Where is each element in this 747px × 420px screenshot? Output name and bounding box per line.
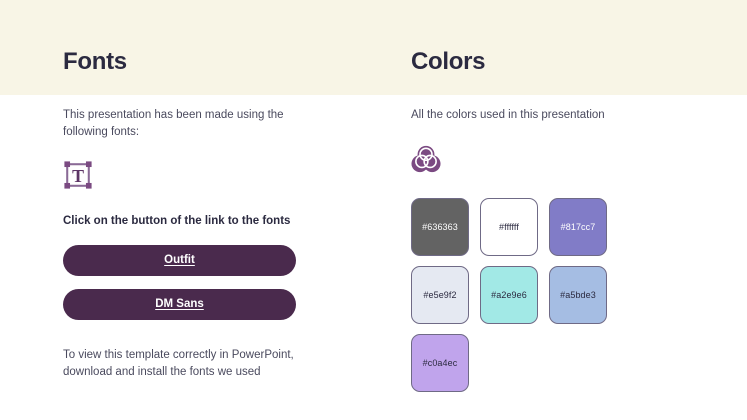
color-swatch-label: #a5bde3 — [560, 290, 596, 300]
text-box-icon: T — [63, 160, 93, 190]
color-swatch-label: #636363 — [422, 222, 458, 232]
color-swatch[interactable]: #ffffff — [480, 198, 538, 256]
colors-section-title: Colors — [411, 50, 485, 74]
color-swatch-label: #a2e9e6 — [491, 290, 527, 300]
fonts-intro-text: This presentation has been made using th… — [63, 107, 313, 140]
color-swatch[interactable]: #817cc7 — [549, 198, 607, 256]
color-swatch-grid: #636363#ffffff#817cc7#e5e9f2#a2e9e6#a5bd… — [411, 198, 721, 392]
venn-color-wheel-icon — [411, 144, 441, 174]
color-swatch-label: #c0a4ec — [423, 358, 458, 368]
color-swatch[interactable]: #a2e9e6 — [480, 266, 538, 324]
fonts-prompt-text: Click on the button of the link to the f… — [63, 213, 363, 229]
color-swatch-label: #817cc7 — [561, 222, 596, 232]
svg-text:T: T — [72, 166, 84, 186]
colors-section: All the colors used in this presentation… — [411, 95, 721, 392]
fonts-section-title: Fonts — [63, 50, 127, 74]
colors-intro-text: All the colors used in this presentation — [411, 107, 661, 124]
color-swatch[interactable]: #a5bde3 — [549, 266, 607, 324]
color-swatch-label: #ffffff — [499, 222, 519, 232]
dm-sans-font-link-button[interactable]: DM Sans — [63, 289, 296, 320]
color-swatch[interactable]: #c0a4ec — [411, 334, 469, 392]
outfit-font-link-button[interactable]: Outfit — [63, 245, 296, 276]
fonts-section: This presentation has been made using th… — [63, 95, 363, 381]
color-swatch[interactable]: #e5e9f2 — [411, 266, 469, 324]
color-swatch[interactable]: #636363 — [411, 198, 469, 256]
color-swatch-label: #e5e9f2 — [423, 290, 456, 300]
fonts-footnote-text: To view this template correctly in Power… — [63, 347, 323, 380]
